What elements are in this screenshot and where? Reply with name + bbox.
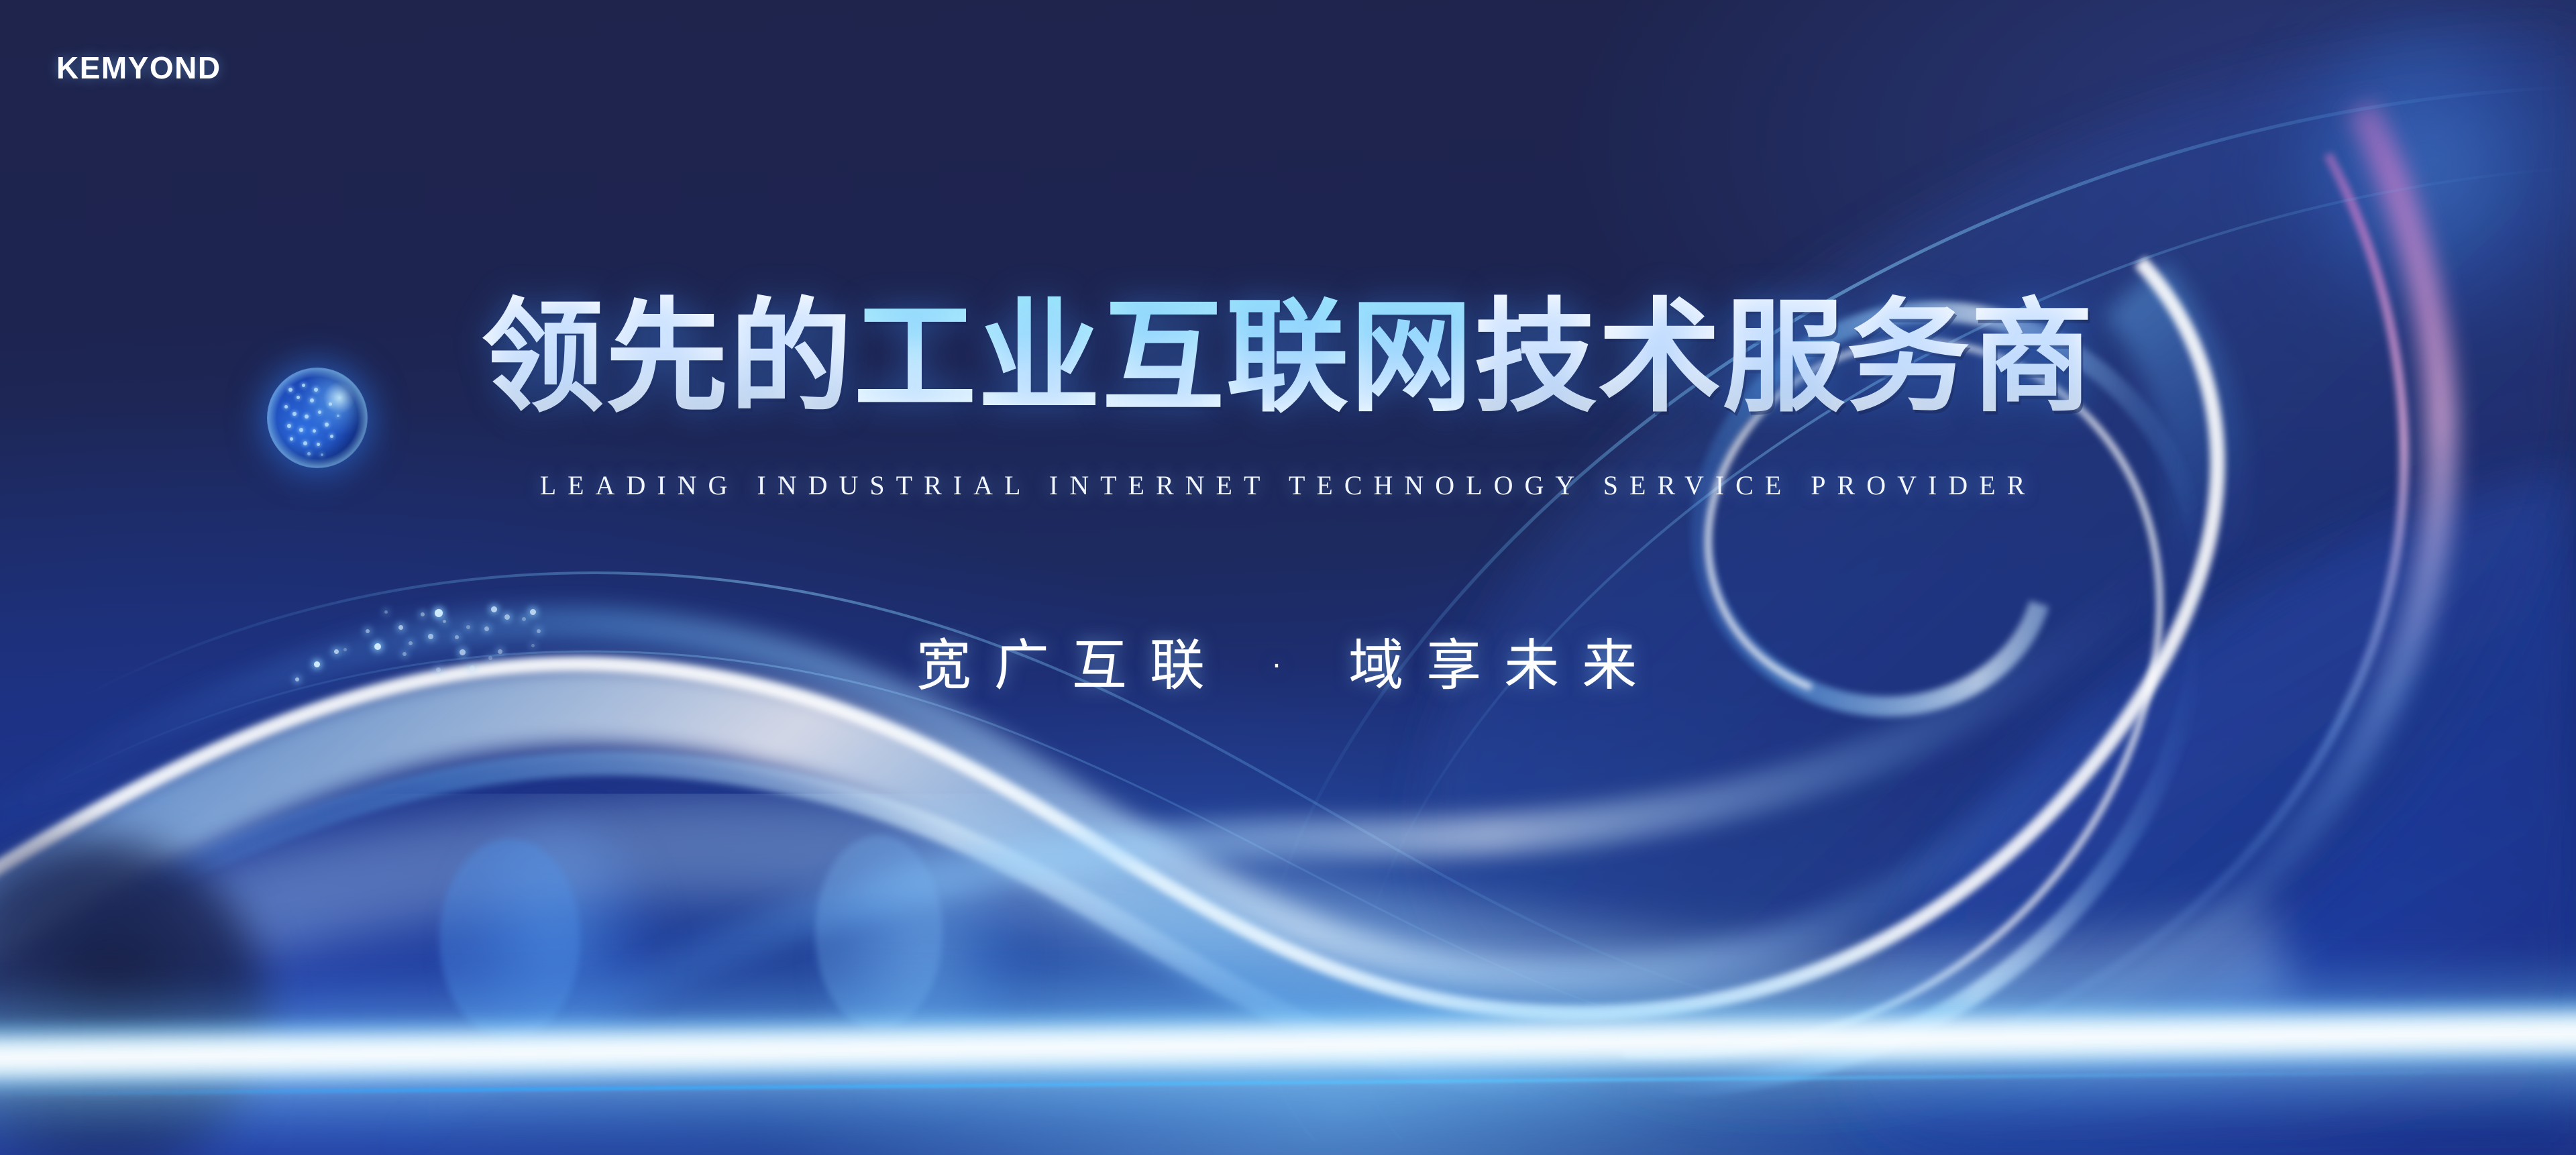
particle-dot	[491, 606, 497, 612]
headline-subtitle: LEADING INDUSTRIAL INTERNET TECHNOLOGY S…	[0, 470, 2576, 501]
lower-right-sweep	[1851, 470, 2576, 1155]
headline-segment-2: 工业互联网	[853, 286, 1474, 429]
brand-tagline: 宽广互联 · 域享未来	[0, 620, 2576, 700]
glow-blob-top-right	[2294, 34, 2576, 322]
light-beam-hairline	[0, 1070, 2576, 1095]
pink-highlight-ribbon-thin	[2006, 154, 2404, 1026]
ribbon-underglow	[0, 846, 2281, 1020]
ribbon-tertiary	[0, 763, 1556, 1093]
ribbon-artwork	[0, 0, 2576, 1155]
background-art	[0, 0, 2576, 1155]
ellipse-shape-center	[815, 835, 943, 1030]
headline-segment-1: 领先的	[481, 286, 853, 429]
light-beam-glow	[0, 953, 2576, 1153]
orbit-line-1	[1261, 87, 2576, 1140]
light-beam-core	[0, 993, 2576, 1098]
promo-banner: KEMYOND 领先的工业互联网技术服务商 LEADING INDUSTRIAL…	[0, 0, 2576, 1155]
page-title: 领先的工业互联网技术服务商	[0, 296, 2576, 419]
orbit-line-4	[40, 651, 1825, 1060]
headline-segment-3: 技术服务商	[1474, 286, 2095, 429]
ribbon-svg	[0, 0, 2576, 1155]
ellipse-shape-left	[439, 838, 580, 1040]
particle-dot	[421, 612, 425, 616]
glow-blob-mid-center	[825, 832, 1026, 1100]
particle-dot	[435, 609, 443, 617]
dark-sphere-bottom-left	[0, 838, 268, 1155]
glow-blob-left-center	[456, 818, 657, 1080]
pink-highlight-ribbon	[2012, 107, 2442, 1046]
particle-dot	[530, 609, 536, 615]
particle-dot	[384, 610, 388, 614]
brand-logo: KEMYOND	[56, 50, 221, 86]
particle-dot	[504, 614, 510, 620]
dark-swirl	[1424, 40, 2576, 1104]
